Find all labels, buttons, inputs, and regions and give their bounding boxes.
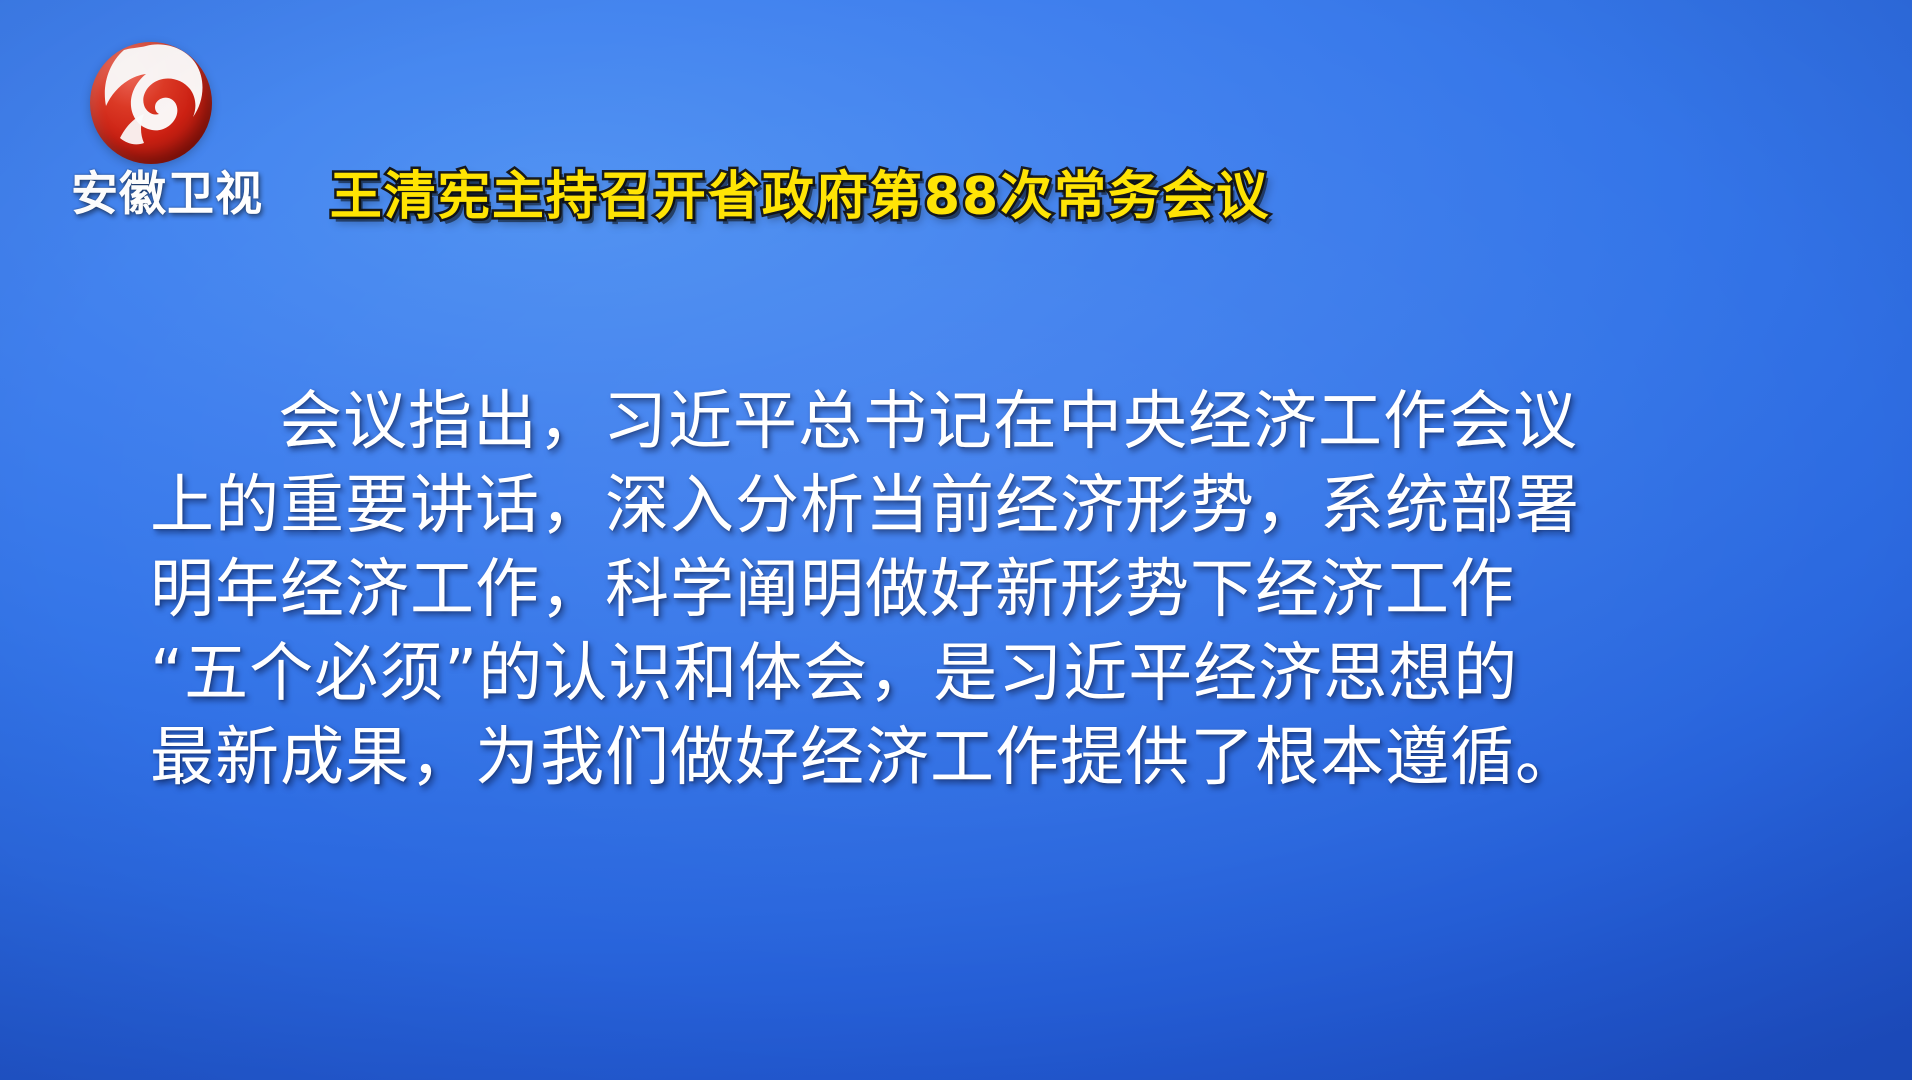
body-line: 会议指出，习近平总书记在中央经济工作会议 bbox=[150, 380, 1762, 464]
page-title: 王清宪主持召开省政府第88次常务会议 bbox=[300, 166, 1300, 228]
body-paragraph: 会议指出，习近平总书记在中央经济工作会议 上的重要讲话，深入分析当前经济形势，系… bbox=[150, 380, 1762, 800]
channel-name-label: 安徽卫视 bbox=[52, 168, 282, 222]
channel-logo: 安徽卫视 bbox=[52, 42, 282, 222]
anhui-tv-orb-icon bbox=[90, 42, 212, 164]
body-line: 上的重要讲话，深入分析当前经济形势，系统部署 bbox=[150, 464, 1762, 548]
body-line: “五个必须”的认识和体会，是习近平经济思想的 bbox=[150, 632, 1762, 716]
broadcast-screen: 安徽卫视 王清宪主持召开省政府第88次常务会议 会议指出，习近平总书记在中央经济… bbox=[0, 0, 1912, 1080]
body-line: 明年经济工作，科学阐明做好新形势下经济工作 bbox=[150, 548, 1762, 632]
body-line: 最新成果，为我们做好经济工作提供了根本遵循。 bbox=[150, 716, 1762, 800]
